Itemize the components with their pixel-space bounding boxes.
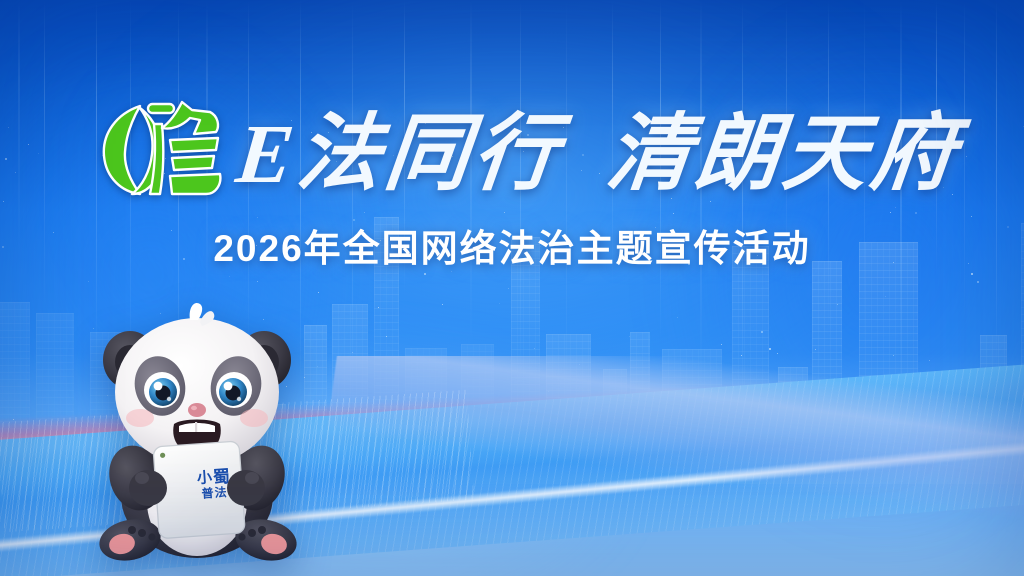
headline: E法同行 清朗天府 (238, 86, 958, 206)
headline-part-1: E法同行 (232, 86, 569, 207)
subtitle: 2026年全国网络法治主题宣传活动 (0, 218, 1024, 272)
headline-part-2: 清朗天府 (602, 86, 967, 207)
campaign-emblem-icon (96, 96, 228, 202)
campaign-poster: E法同行 清朗天府 2026年全国网络法治主题宣传活动 (0, 0, 1024, 576)
panda-mascot (78, 282, 316, 570)
